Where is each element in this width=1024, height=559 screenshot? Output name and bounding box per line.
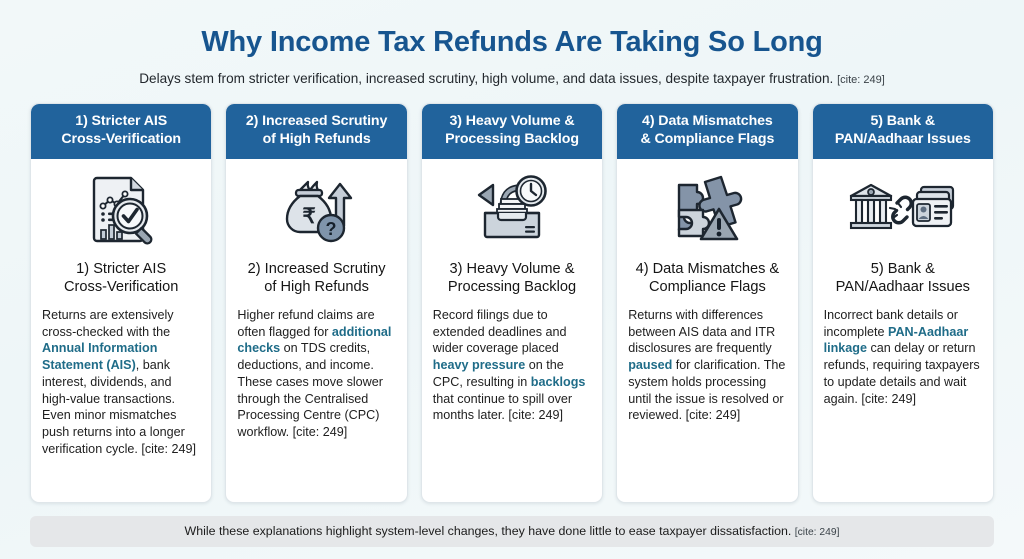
card-title-1-line1: 1) Stricter AIS [76,261,166,277]
card-data-mismatches-compliance-flags[interactable]: 4) Data Mismatches & Compliance Flags 4) [616,103,798,503]
card-title-4-line1: 4) Data Mismatches & [636,261,780,277]
card-text-1-part2: , bank interest, dividends, and high-val… [42,358,196,456]
card-heavy-volume-processing-backlog[interactable]: 3) Heavy Volume & Processing Backlog [421,103,603,503]
card-bank-pan-aadhaar-issues[interactable]: 5) Bank & PAN/Aadhaar Issues [812,103,994,503]
card-title-3-line1: 3) Heavy Volume & [450,261,575,277]
card-title-2: 2) Increased Scrutiny of High Refunds [248,260,386,297]
card-body-4: 4) Data Mismatches & Compliance Flags Re… [617,159,797,502]
card-body-5: 5) Bank & PAN/Aadhaar Issues Incorrect b… [813,159,993,502]
card-title-5-line2: PAN/Aadhaar Issues [836,279,970,295]
card-title-2-line1: 2) Increased Scrutiny [248,261,386,277]
card-text-4-highlight: paused [628,358,672,372]
card-text-2: Higher refund claims are often flagged f… [237,307,395,492]
card-text-1: Returns are extensively cross-checked wi… [42,307,200,492]
card-text-3-part3: that continue to spill over months later… [433,392,572,423]
card-increased-scrutiny-high-refunds[interactable]: 2) Increased Scrutiny of High Refunds ₹ … [225,103,407,503]
svg-text:?: ? [325,219,336,239]
card-header-5-line2: PAN/Aadhaar Issues [835,131,971,147]
card-body-2: ₹ ? 2) Increased Scrutiny of High Refund… [226,159,406,502]
card-text-1-part1: Returns are extensively cross-checked wi… [42,308,174,339]
card-body-1: 1) Stricter AIS Cross-Verification Retur… [31,159,211,502]
card-header-3: 3) Heavy Volume & Processing Backlog [422,104,602,159]
card-header-1-line2: Cross-Verification [61,131,181,147]
card-header-4-line1: 4) Data Mismatches [642,113,773,129]
card-header-3-line1: 3) Heavy Volume & [450,113,575,129]
card-title-1: 1) Stricter AIS Cross-Verification [64,260,178,297]
card-title-3: 3) Heavy Volume & Processing Backlog [448,260,576,297]
card-title-4: 4) Data Mismatches & Compliance Flags [636,260,780,297]
card-title-5-line1: 5) Bank & [871,261,935,277]
card-header-5-line1: 5) Bank & [871,113,936,129]
card-header-4-line2: & Compliance Flags [640,131,774,147]
card-stricter-ais-cross-verification[interactable]: 1) Stricter AIS Cross-Verification [30,103,212,503]
infographic-page: Why Income Tax Refunds Are Taking So Lon… [0,0,1024,559]
card-header-2-line1: 2) Increased Scrutiny [246,113,387,129]
document-chart-magnifier-check-icon [83,169,159,249]
card-text-4-part1: Returns with differences between AIS dat… [628,308,775,355]
card-text-3-highlight2: backlogs [531,375,586,389]
puzzle-pieces-warning-icon [669,169,745,249]
card-title-3-line2: Processing Backlog [448,279,576,295]
card-body-3: 3) Heavy Volume & Processing Backlog Rec… [422,159,602,502]
card-text-5: Incorrect bank details or incomplete PAN… [824,307,982,492]
page-subtitle: Delays stem from stricter verification, … [30,70,994,88]
card-header-2-line2: of High Refunds [263,131,371,147]
card-row: 1) Stricter AIS Cross-Verification [30,103,994,503]
card-text-3: Record filings due to extended deadlines… [433,307,591,492]
card-header-3-line2: Processing Backlog [445,131,579,147]
footer-banner: While these explanations highlight syste… [30,516,994,547]
page-subtitle-citation: [cite: 249] [837,74,885,86]
card-header-1-line1: 1) Stricter AIS [75,113,167,129]
money-bag-rupee-arrow-question-icon: ₹ ? [278,169,356,249]
footer-text: While these explanations highlight syste… [185,524,792,538]
svg-text:₹: ₹ [302,205,315,228]
card-header-1: 1) Stricter AIS Cross-Verification [31,104,211,159]
card-title-2-line2: of High Refunds [264,279,369,295]
card-title-4-line2: Compliance Flags [649,279,766,295]
bank-broken-link-id-cards-icon [849,169,957,249]
card-text-3-highlight: heavy pressure [433,358,525,372]
card-title-5: 5) Bank & PAN/Aadhaar Issues [836,260,970,297]
card-title-1-line2: Cross-Verification [64,279,178,295]
footer-citation: [cite: 249] [795,527,840,538]
page-subtitle-text: Delays stem from stricter verification, … [139,71,833,86]
card-text-3-part1: Record filings due to extended deadlines… [433,308,567,355]
card-header-4: 4) Data Mismatches & Compliance Flags [617,104,797,159]
card-header-2: 2) Increased Scrutiny of High Refunds [226,104,406,159]
header: Why Income Tax Refunds Are Taking So Lon… [30,22,994,87]
card-header-5: 5) Bank & PAN/Aadhaar Issues [813,104,993,159]
card-text-4: Returns with differences between AIS dat… [628,307,786,492]
card-text-2-part2: on TDS credits, deductions, and income. … [237,341,383,439]
inbox-tray-clock-arrow-icon [471,169,553,249]
page-title: Why Income Tax Refunds Are Taking So Lon… [30,22,994,60]
